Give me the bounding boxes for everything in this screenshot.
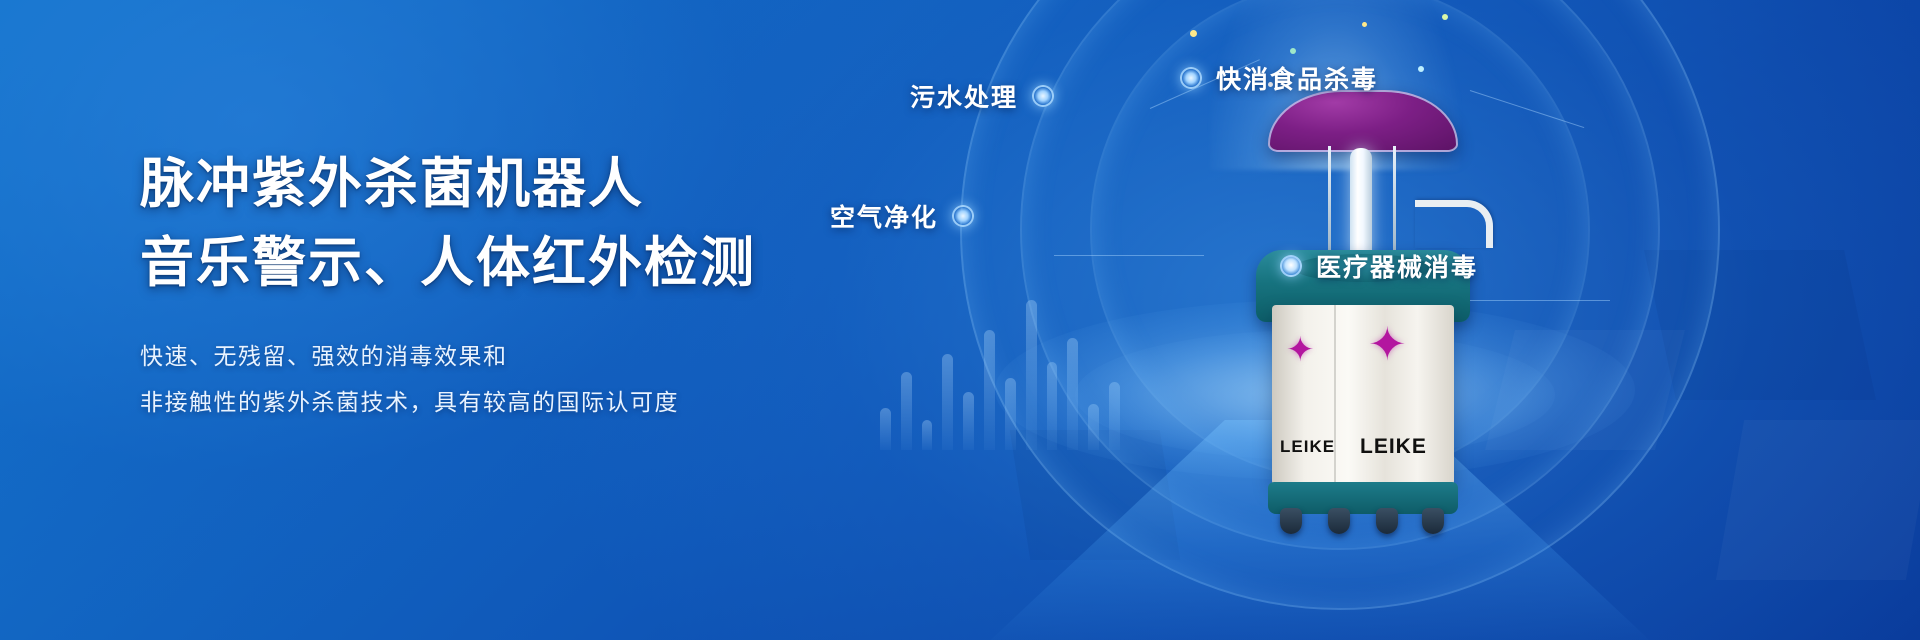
- callout-medical-device[interactable]: 医疗器械消毒: [1280, 248, 1478, 284]
- headline-line-2: 音乐警示、人体红外检测: [140, 229, 900, 298]
- banner-copy: 脉冲紫外杀菌机器人 音乐警示、人体红外检测 快速、无残留、强效的消毒效果和 非接…: [140, 150, 900, 426]
- callout-dot-icon: [1280, 255, 1302, 277]
- lamp-support-rod: [1393, 146, 1396, 258]
- callout-label: 医疗器械消毒: [1316, 248, 1478, 284]
- product-scene: ✦ ✦ LEIKE LEIKE 污水处理 快消食品杀毒 空气净化: [1000, 0, 1920, 640]
- caster-wheel: [1328, 508, 1350, 534]
- callout-leader-line: [1470, 300, 1610, 301]
- caster-wheel: [1280, 508, 1302, 534]
- brand-label-left: LEIKE: [1280, 437, 1335, 457]
- banner-stage: 脉冲紫外杀菌机器人 音乐警示、人体红外检测 快速、无残留、强效的消毒效果和 非接…: [0, 0, 1920, 640]
- caster-wheel: [1376, 508, 1398, 534]
- caster-wheel: [1422, 508, 1444, 534]
- callout-leader-line: [1054, 255, 1204, 256]
- headline-line-1: 脉冲紫外杀菌机器人: [140, 150, 900, 219]
- device-front-panel: ✦ ✦ LEIKE LEIKE: [1272, 305, 1454, 485]
- brand-label-right: LEIKE: [1360, 435, 1427, 459]
- callout-air-purification[interactable]: 空气净化: [830, 198, 974, 234]
- panel-seam: [1334, 305, 1336, 485]
- callout-label: 快消食品杀毒: [1216, 60, 1378, 96]
- brand-star-icon: ✦: [1286, 333, 1315, 367]
- subcopy: 快速、无残留、强效的消毒效果和 非接触性的紫外杀菌技术，具有较高的国际认可度: [140, 334, 900, 426]
- subcopy-line-2: 非接触性的紫外杀菌技术，具有较高的国际认可度: [140, 380, 900, 426]
- callout-dot-icon: [1180, 67, 1202, 89]
- callout-dot-icon: [952, 205, 974, 227]
- push-handle: [1415, 200, 1493, 248]
- callout-wastewater[interactable]: 污水处理: [910, 78, 1054, 114]
- uv-lamp-tube: [1350, 148, 1372, 256]
- callout-dot-icon: [1032, 85, 1054, 107]
- uv-lamp-cap: [1268, 90, 1458, 152]
- lamp-support-rod: [1328, 146, 1331, 258]
- uv-robot-device: ✦ ✦ LEIKE LEIKE: [1250, 90, 1470, 490]
- callout-fmcg-food[interactable]: 快消食品杀毒: [1180, 60, 1378, 96]
- callout-label: 空气净化: [830, 198, 938, 234]
- callout-label: 污水处理: [910, 78, 1018, 114]
- subcopy-line-1: 快速、无残留、强效的消毒效果和: [140, 334, 900, 380]
- brand-star-icon: ✦: [1368, 321, 1407, 367]
